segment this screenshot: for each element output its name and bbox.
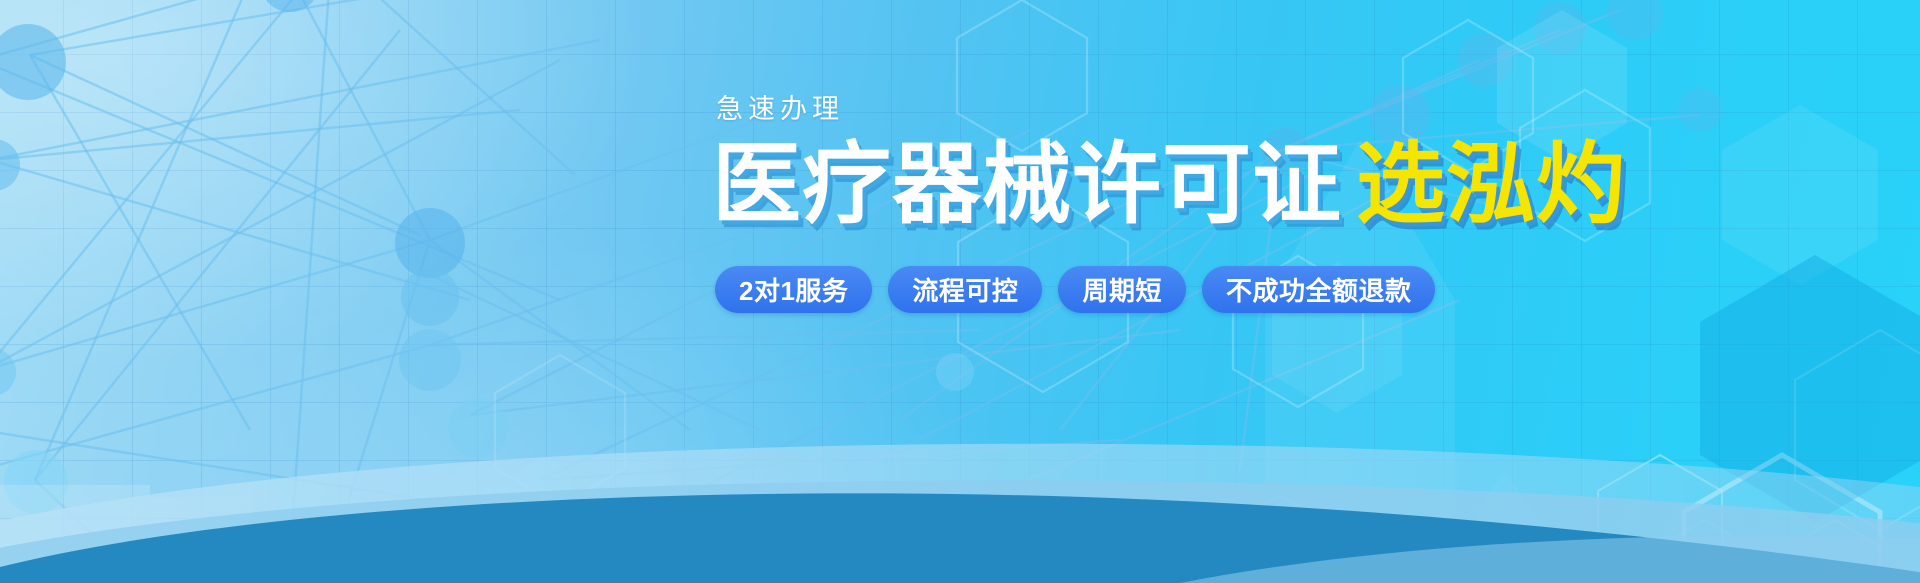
feature-pill-2[interactable]: 流程可控 <box>888 266 1042 313</box>
feature-pill-list: 2对1服务 流程可控 周期短 不成功全额退款 <box>715 266 1812 313</box>
wave-light-decor <box>0 444 1920 583</box>
eyebrow-text: 急速办理 <box>716 96 1812 123</box>
wave-highlight-decor <box>1180 536 1920 583</box>
banner-content: 急速办理 医疗器械许可证选泓灼 2对1服务 流程可控 周期短 不成功全额退款 <box>712 96 1812 313</box>
hexagon-outline-bright-decor <box>1524 455 1880 583</box>
wave-dark-inner-decor <box>0 509 1920 583</box>
headline-white-part: 医疗器械许可证 <box>712 132 1342 236</box>
page-title: 医疗器械许可证选泓灼 <box>712 139 1812 230</box>
wave-mid-decor <box>0 480 1920 583</box>
headline-yellow-part: 选泓灼 <box>1356 132 1626 236</box>
hexagon-outline-thin-decor <box>1598 455 1897 583</box>
feature-pill-4[interactable]: 不成功全额退款 <box>1202 266 1436 313</box>
wave-dark-decor <box>0 493 1920 583</box>
feature-pill-1[interactable]: 2对1服务 <box>715 266 872 313</box>
block-accent-decor <box>0 485 500 583</box>
promo-banner: 急速办理 医疗器械许可证选泓灼 2对1服务 流程可控 周期短 不成功全额退款 <box>0 0 1920 583</box>
feature-pill-3[interactable]: 周期短 <box>1058 266 1186 313</box>
